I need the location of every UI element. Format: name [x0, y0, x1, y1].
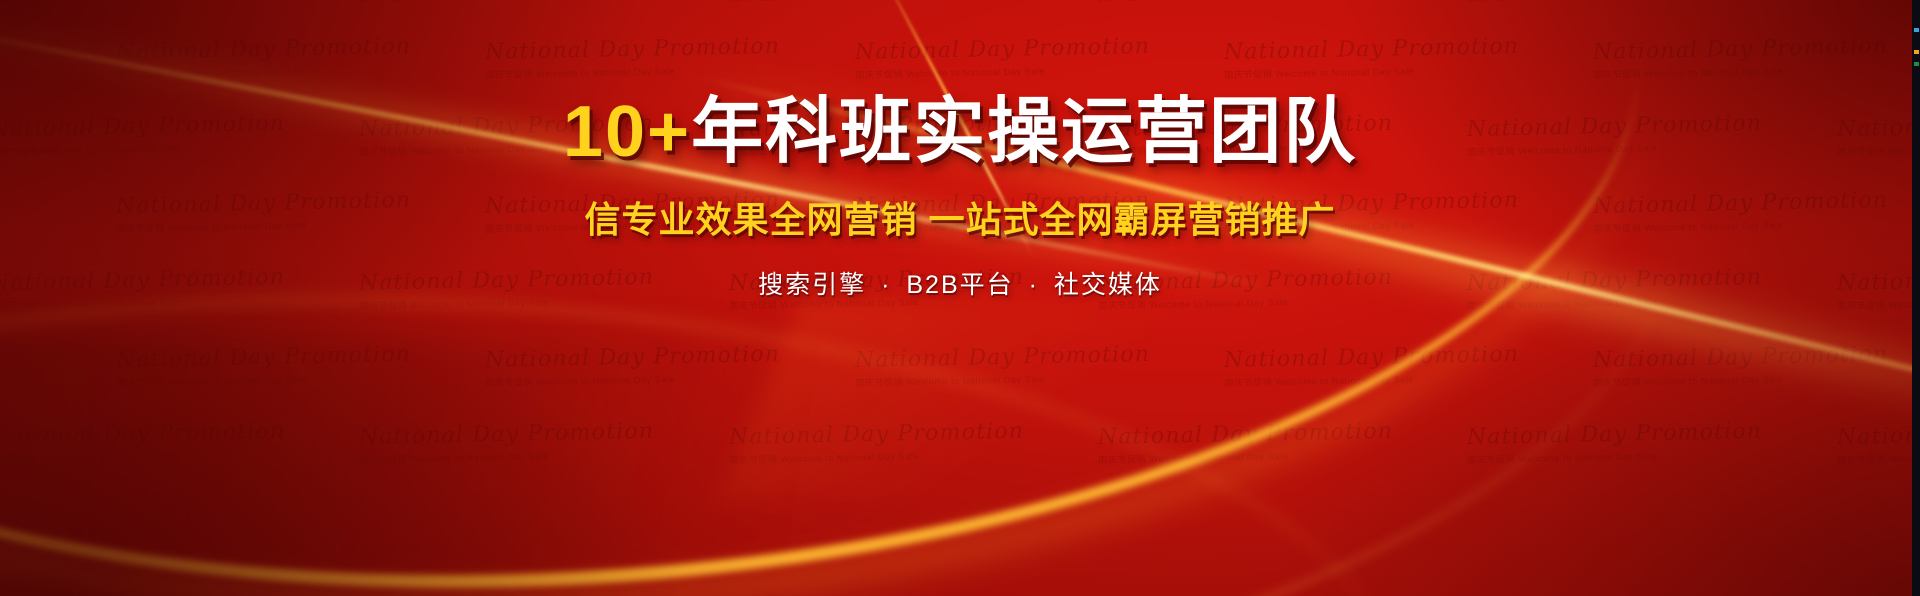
tagline-item-social-media: 社交媒体	[1054, 271, 1162, 299]
edge-pip-blue	[1914, 28, 1919, 32]
watermark-sub-text: 国庆节促销 Welcome to National Day Sale	[729, 0, 1025, 4]
watermark-tile: National Day Promotion国庆节促销 Welcome to N…	[854, 342, 1150, 389]
banner-headline: 10+年科班实操运营团队	[0, 96, 1920, 169]
facet-highlight-decor	[720, 300, 1221, 500]
watermark-script-text: National Day Promotion	[116, 34, 412, 65]
banner-subheadline: 信专业效果全网营销 一站式全网霸屏营销推广	[0, 191, 1920, 243]
watermark-sub-text: 国庆节促销 Welcome to National Day Sale	[855, 62, 1151, 81]
watermark-row: National Day Promotion国庆节促销 Welcome to N…	[0, 422, 1920, 463]
watermark-sub-text: 国庆节促销 Welcome to National Day Sale	[1224, 62, 1520, 81]
watermark-sub-text: 国庆节促销 Welcome to National Day Sale	[0, 447, 286, 466]
watermark-script-text: National Day Promotion	[1467, 419, 1763, 450]
banner-tagline: 搜索引擎 · B2B平台 · 社交媒体	[0, 265, 1920, 301]
watermark-tile: National Day Promotion国庆节促销 Welcome to N…	[1467, 419, 1763, 466]
watermark-script-text: National Day Promotion	[1593, 342, 1889, 373]
watermark-sub-text: 国庆节促销 Welcome to National Day Sale	[855, 370, 1151, 389]
watermark-sub-text: 国庆节促销 Welcome to National Day Sale	[116, 62, 412, 81]
watermark-sub-text: 国庆节促销 Welcome to National Day Sale	[486, 62, 782, 81]
watermark-sub-text: 国庆节促销 Welcome to National Day Sale	[1837, 0, 1920, 4]
watermark-tile: National Day Promotion国庆节促销 Welcome to N…	[1836, 419, 1920, 466]
watermark-sub-text: 国庆节促销 Welcome to National Day Sale	[1468, 447, 1764, 466]
edge-pip-green	[1914, 62, 1919, 66]
right-edge-strip	[1912, 0, 1920, 596]
watermark-sub-text: 国庆节促销 Welcome to National Day Sale	[1098, 447, 1394, 466]
watermark-sub-text: 国庆节促销 Welcome to National Day Sale	[1594, 370, 1890, 389]
watermark-tile: National Day Promotion国庆节促销 Welcome to N…	[0, 0, 286, 4]
watermark-tile: National Day Promotion国庆节促销 Welcome to N…	[1098, 419, 1394, 466]
watermark-tile: National Day Promotion国庆节促销 Welcome to N…	[1467, 0, 1763, 4]
watermark-script-text: National Day Promotion	[359, 419, 655, 450]
tagline-separator-1: ·	[875, 271, 897, 299]
watermark-tile: National Day Promotion国庆节促销 Welcome to N…	[116, 34, 412, 81]
watermark-script-text: National Day Promotion	[1836, 419, 1920, 450]
watermark-sub-text: 国庆节促销 Welcome to National Day Sale	[360, 447, 656, 466]
watermark-script-text: National Day Promotion	[0, 419, 285, 450]
watermark-tile: National Day Promotion国庆节促销 Welcome to N…	[1593, 34, 1889, 81]
watermark-script-text: National Day Promotion	[854, 34, 1150, 65]
promotional-banner: National Day Promotion国庆节促销 Welcome to N…	[0, 0, 1920, 596]
watermark-row: National Day Promotion国庆节促销 Welcome to N…	[0, 37, 1920, 78]
watermark-sub-text: 国庆节促销 Welcome to National Day Sale	[1468, 0, 1764, 4]
watermark-tile: National Day Promotion国庆节促销 Welcome to N…	[1224, 34, 1520, 81]
watermark-script-text: National Day Promotion	[116, 342, 412, 373]
watermark-script-text: National Day Promotion	[1224, 34, 1520, 65]
shadow-wedge-decor	[0, 330, 1150, 596]
watermark-sub-text: 国庆节促销 Welcome to National Day Sale	[0, 0, 286, 4]
watermark-script-text: National Day Promotion	[854, 342, 1150, 373]
watermark-script-text: National Day Promotion	[1593, 34, 1889, 65]
watermark-script-text: National Day Promotion	[485, 342, 781, 373]
arc-ribbon-lower-decor	[0, 251, 1417, 596]
watermark-sub-text: 国庆节促销 Welcome to National Day Sale	[116, 370, 412, 389]
tagline-item-search-engine: 搜索引擎	[758, 271, 866, 299]
watermark-tile: National Day Promotion国庆节促销 Welcome to N…	[728, 0, 1024, 4]
watermark-sub-text: 国庆节促销 Welcome to National Day Sale	[486, 370, 782, 389]
watermark-tile: National Day Promotion国庆节促销 Welcome to N…	[728, 419, 1024, 466]
watermark-tile: National Day Promotion国庆节促销 Welcome to N…	[854, 34, 1150, 81]
headline-rest-text: 年科班实操运营团队	[691, 92, 1357, 172]
watermark-row: National Day Promotion国庆节促销 Welcome to N…	[0, 345, 1920, 386]
watermark-sub-text: 国庆节促销 Welcome to National Day Sale	[360, 0, 656, 4]
banner-copy-block: 10+年科班实操运营团队 信专业效果全网营销 一站式全网霸屏营销推广 搜索引擎 …	[0, 96, 1920, 301]
watermark-sub-text: 国庆节促销 Welcome to National Day Sale	[1098, 0, 1394, 4]
tagline-item-b2b-platform: B2B平台	[906, 271, 1013, 299]
headline-highlight-number: 10+	[563, 92, 691, 172]
watermark-tile: National Day Promotion国庆节促销 Welcome to N…	[359, 0, 655, 4]
watermark-row: National Day Promotion国庆节促销 Welcome to N…	[0, 0, 1920, 1]
watermark-tile: National Day Promotion国庆节促销 Welcome to N…	[1836, 0, 1920, 4]
watermark-tile: National Day Promotion国庆节促销 Welcome to N…	[359, 419, 655, 466]
watermark-tile: National Day Promotion国庆节促销 Welcome to N…	[0, 419, 286, 466]
watermark-tile: National Day Promotion国庆节促销 Welcome to N…	[116, 342, 412, 389]
watermark-tile: National Day Promotion国庆节促销 Welcome to N…	[1098, 0, 1394, 4]
watermark-script-text: National Day Promotion	[1098, 419, 1394, 450]
watermark-script-text: National Day Promotion	[1224, 342, 1520, 373]
watermark-tile: National Day Promotion国庆节促销 Welcome to N…	[485, 34, 781, 81]
watermark-tile: National Day Promotion国庆节促销 Welcome to N…	[1224, 342, 1520, 389]
watermark-sub-text: 国庆节促销 Welcome to National Day Sale	[1224, 370, 1520, 389]
watermark-sub-text: 国庆节促销 Welcome to National Day Sale	[1594, 62, 1890, 81]
watermark-tile: National Day Promotion国庆节促销 Welcome to N…	[485, 342, 781, 389]
tagline-separator-2: ·	[1023, 271, 1045, 299]
watermark-script-text: National Day Promotion	[728, 419, 1024, 450]
watermark-sub-text: 国庆节促销 Welcome to National Day Sale	[1837, 447, 1920, 466]
watermark-script-text: National Day Promotion	[485, 34, 781, 65]
edge-pip-orange	[1914, 50, 1919, 54]
watermark-tile: National Day Promotion国庆节促销 Welcome to N…	[1593, 342, 1889, 389]
watermark-sub-text: 国庆节促销 Welcome to National Day Sale	[729, 447, 1025, 466]
